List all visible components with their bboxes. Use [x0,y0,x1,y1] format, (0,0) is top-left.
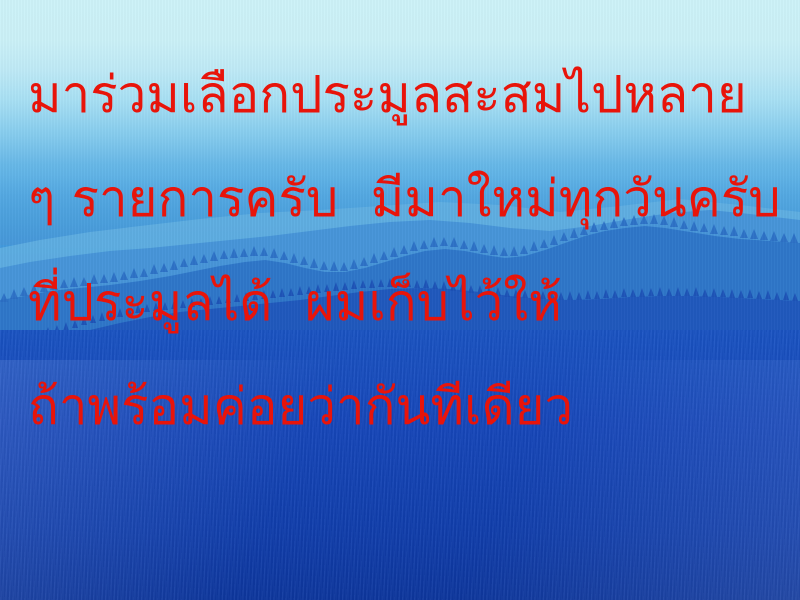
caption-line-1: มาร่วมเลือกประมูลสะสมไปหลาย [28,44,800,148]
caption-line-4: ถ้าพร้อมค่อยว่ากันทีเดียว [28,356,800,460]
caption-line-3: ที่ประมูลได้ ผมเก็บไว้ให้ [28,252,800,356]
caption-overlay: มาร่วมเลือกประมูลสะสมไปหลาย ๆ รายการครับ… [0,0,800,600]
caption-line-2: ๆ รายการครับ มีมาใหม่ทุกวันครับ [28,148,800,252]
image-canvas: มาร่วมเลือกประมูลสะสมไปหลาย ๆ รายการครับ… [0,0,800,600]
